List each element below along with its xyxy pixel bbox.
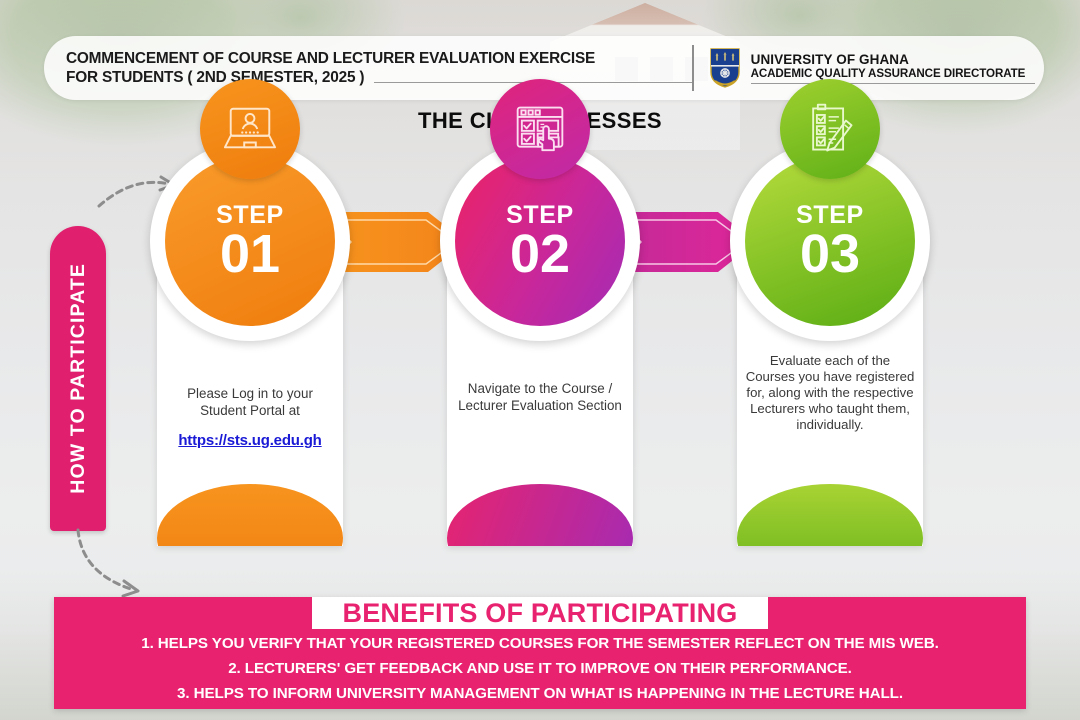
step-card-1-text: Please Log in to your Student Portal at [187, 386, 313, 418]
benefit-item-2: 2. LECTURERS' GET FEEDBACK AND USE IT TO… [54, 656, 1026, 681]
benefits-panel: BENEFITS OF PARTICIPATING 1. HELPS YOU V… [54, 597, 1026, 709]
step-2-circle: STEP 02 [455, 156, 625, 326]
header-directorate-name: ACADEMIC QUALITY ASSURANCE DIRECTORATE [751, 67, 1035, 80]
step-3-number: 03 [800, 229, 860, 279]
benefits-list: 1. HELPS YOU VERIFY THAT YOUR REGISTERED… [54, 631, 1026, 706]
step-card-2-footer [447, 484, 633, 546]
step-1-number: 01 [220, 229, 280, 279]
header-university-name: UNIVERSITY OF GHANA [751, 52, 1035, 67]
header-rule-2 [751, 83, 1035, 84]
header-title-line1: COMMENCEMENT OF COURSE AND LECTURER EVAL… [66, 49, 692, 68]
step-card-3-footer [737, 484, 923, 546]
benefit-item-1: 1. HELPS YOU VERIFY THAT YOUR REGISTERED… [54, 631, 1026, 656]
step-3-circle: STEP 03 [745, 156, 915, 326]
benefits-title-band: BENEFITS OF PARTICIPATING [54, 597, 1026, 629]
student-portal-link[interactable]: https://sts.ug.edu.gh [165, 433, 335, 450]
clipboard-checklist-pen-icon [780, 79, 880, 179]
how-to-participate-label: HOW TO PARTICIPATE [67, 263, 90, 494]
step-2-number: 02 [510, 229, 570, 279]
step-card-3-text-block: Evaluate each of the Courses you have re… [745, 353, 915, 433]
header-title-block: COMMENCEMENT OF COURSE AND LECTURER EVAL… [44, 49, 692, 87]
how-to-participate-banner: HOW TO PARTICIPATE [50, 226, 106, 531]
browser-checklist-click-icon [490, 79, 590, 179]
step-1-circle: STEP 01 [165, 156, 335, 326]
step-card-2-text-block: Navigate to the Course / Lecturer Evalua… [455, 381, 625, 414]
step-card-2-text: Navigate to the Course / Lecturer Evalua… [458, 381, 622, 413]
step-card-1-footer [157, 484, 343, 546]
benefit-item-3: 3. HELPS TO INFORM UNIVERSITY MANAGEMENT… [54, 681, 1026, 706]
laptop-login-icon [200, 79, 300, 179]
step-card-1-text-block: Please Log in to your Student Portal at … [165, 386, 335, 450]
step-card-3-text: Evaluate each of the Courses you have re… [746, 353, 915, 432]
university-crest-icon [710, 48, 740, 88]
header-title-line2: FOR STUDENTS ( 2ND SEMESTER, 2025 ) [66, 68, 364, 87]
benefits-title: BENEFITS OF PARTICIPATING [343, 598, 738, 629]
